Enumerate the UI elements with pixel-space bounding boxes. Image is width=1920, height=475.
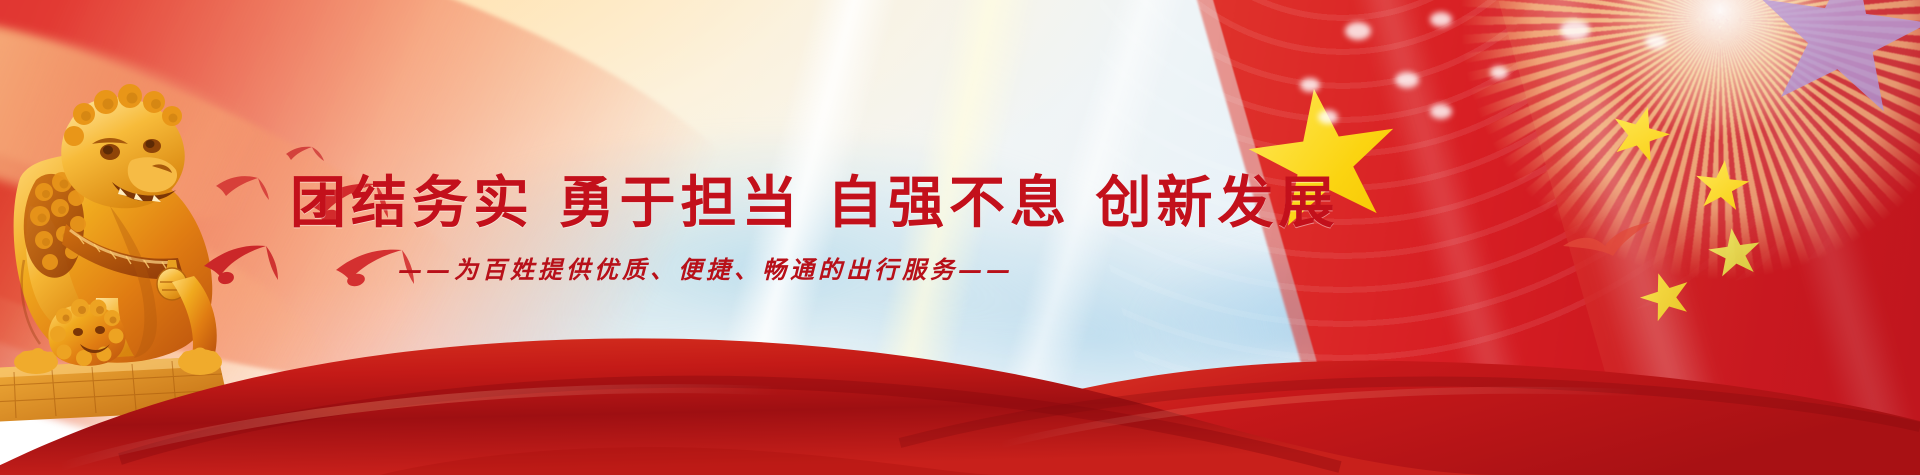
page-title: 团结务实 勇于担当 自强不息 创新发展: [290, 158, 1340, 239]
bokeh-dot: [1645, 34, 1667, 49]
bokeh-dot: [1345, 22, 1371, 40]
bokeh-dot: [1395, 72, 1419, 88]
bokeh-dot: [1560, 20, 1590, 40]
bokeh-dot: [1300, 78, 1320, 92]
banner-root: 团结务实 勇于担当 自强不息 创新发展 ——为百姓提供优质、便捷、畅通的出行服务…: [0, 0, 1920, 475]
bokeh-dot: [1430, 104, 1452, 119]
bokeh-dot: [1318, 110, 1338, 124]
bokeh-dot: [1490, 66, 1508, 79]
bokeh-dot: [1430, 12, 1452, 27]
red-silk-wave-icon: [0, 245, 1920, 475]
